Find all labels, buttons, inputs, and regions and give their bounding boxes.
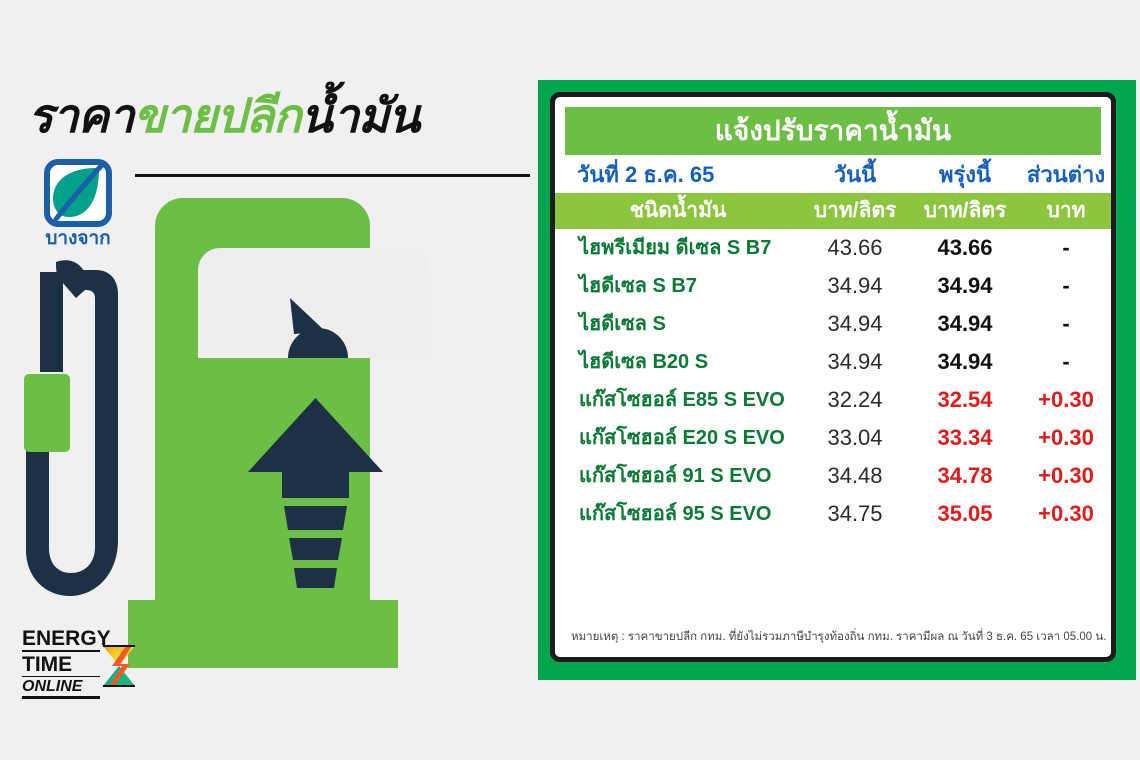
unit-diff: บาท — [1021, 193, 1111, 229]
price-today: 34.94 — [801, 305, 909, 343]
fuel-name: ไฮพรีเมียม ดีเซล S B7 — [555, 229, 801, 267]
price-diff: - — [1021, 229, 1111, 267]
price-card-header: แจ้งปรับราคาน้ำมัน — [565, 107, 1101, 155]
fuel-pump-display — [198, 248, 430, 358]
price-diff: +0.30 — [1021, 457, 1111, 495]
table-row: แก๊สโซฮอล์ 91 S EVO 34.48 34.78 +0.30 — [555, 457, 1111, 495]
bangchak-leaf-logo-icon — [42, 157, 114, 229]
price-card: แจ้งปรับราคาน้ำมัน วันที่ 2 ธ.ค. 65 วันน… — [550, 92, 1116, 662]
fuel-nozzle-grip — [24, 374, 70, 452]
poster-canvas: ราคาขายปลีกน้ำมัน บางจาก — [0, 0, 1140, 760]
unit-fuel-type: ชนิดน้ำมัน — [555, 193, 801, 229]
price-tomorrow: 33.34 — [909, 419, 1021, 457]
unit-today: บาท/ลิตร — [801, 193, 909, 229]
title-divider — [135, 174, 530, 177]
up-arrow-icon — [248, 398, 383, 588]
page-title: ราคาขายปลีกน้ำมัน — [28, 92, 419, 139]
fuel-name: แก๊สโซฮอล์ 95 S EVO — [555, 495, 801, 533]
price-today: 34.94 — [801, 267, 909, 305]
header-today: วันนี้ — [801, 155, 909, 193]
price-tomorrow: 32.54 — [909, 381, 1021, 419]
price-today: 34.94 — [801, 343, 909, 381]
price-tomorrow: 34.78 — [909, 457, 1021, 495]
price-table: วันที่ 2 ธ.ค. 65 วันนี้ พรุ่งนี้ ส่วนต่า… — [555, 155, 1111, 533]
price-diff: +0.30 — [1021, 495, 1111, 533]
page-title-part2: ขายปลีก — [133, 89, 300, 142]
fuel-name: ไฮดีเซล S — [555, 305, 801, 343]
header-tomorrow: พรุ่งนี้ — [909, 155, 1021, 193]
table-row: ไฮดีเซล B20 S 34.94 34.94 - — [555, 343, 1111, 381]
price-diff: +0.30 — [1021, 381, 1111, 419]
page-title-part3: น้ำมัน — [301, 89, 420, 142]
fuel-name: แก๊สโซฮอล์ E85 S EVO — [555, 381, 801, 419]
table-row: แก๊สโซฮอล์ 95 S EVO 34.75 35.05 +0.30 — [555, 495, 1111, 533]
fuel-name: แก๊สโซฮอล์ 91 S EVO — [555, 457, 801, 495]
fuel-name: แก๊สโซฮอล์ E20 S EVO — [555, 419, 801, 457]
price-tomorrow: 35.05 — [909, 495, 1021, 533]
price-diff: - — [1021, 267, 1111, 305]
table-row: ไฮพรีเมียม ดีเซล S B7 43.66 43.66 - — [555, 229, 1111, 267]
gauge-needle-icon — [198, 248, 430, 358]
price-today: 43.66 — [801, 229, 909, 267]
price-today: 34.48 — [801, 457, 909, 495]
table-header-units-row: ชนิดน้ำมัน บาท/ลิตร บาท/ลิตร บาท — [555, 193, 1111, 229]
table-footnote: หมายเหตุ : ราคาขายปลีก กทม. ที่ยังไม่รวม… — [571, 630, 1097, 645]
hourglass-z-icon — [102, 644, 136, 688]
price-today: 33.04 — [801, 419, 909, 457]
fuel-name: ไฮดีเซล B20 S — [555, 343, 801, 381]
header-diff: ส่วนต่าง — [1021, 155, 1111, 193]
page-title-part1: ราคา — [28, 89, 133, 142]
price-tomorrow: 34.94 — [909, 343, 1021, 381]
price-diff: +0.30 — [1021, 419, 1111, 457]
unit-tomorrow: บาท/ลิตร — [909, 193, 1021, 229]
price-tomorrow: 34.94 — [909, 305, 1021, 343]
price-diff: - — [1021, 305, 1111, 343]
source-logo-line2: TIME — [22, 652, 100, 677]
price-card-title: แจ้งปรับราคาน้ำมัน — [715, 117, 951, 145]
source-logo: ENERGY TIME ONLINE — [22, 628, 132, 690]
price-tomorrow: 43.66 — [909, 229, 1021, 267]
price-panel: แจ้งปรับราคาน้ำมัน วันที่ 2 ธ.ค. 65 วันน… — [538, 80, 1136, 680]
header-date-label: วันที่ 2 ธ.ค. 65 — [555, 155, 801, 193]
table-header-date-row: วันที่ 2 ธ.ค. 65 วันนี้ พรุ่งนี้ ส่วนต่า… — [555, 155, 1111, 193]
table-row: ไฮดีเซล S B7 34.94 34.94 - — [555, 267, 1111, 305]
source-logo-line1: ENERGY — [22, 628, 100, 652]
fuel-name: ไฮดีเซล S B7 — [555, 267, 801, 305]
price-today: 32.24 — [801, 381, 909, 419]
table-row: ไฮดีเซล S 34.94 34.94 - — [555, 305, 1111, 343]
price-tomorrow: 34.94 — [909, 267, 1021, 305]
price-today: 34.75 — [801, 495, 909, 533]
price-diff: - — [1021, 343, 1111, 381]
table-row: แก๊สโซฮอล์ E85 S EVO 32.24 32.54 +0.30 — [555, 381, 1111, 419]
source-logo-line3: ONLINE — [22, 677, 100, 699]
table-row: แก๊สโซฮอล์ E20 S EVO 33.04 33.34 +0.30 — [555, 419, 1111, 457]
